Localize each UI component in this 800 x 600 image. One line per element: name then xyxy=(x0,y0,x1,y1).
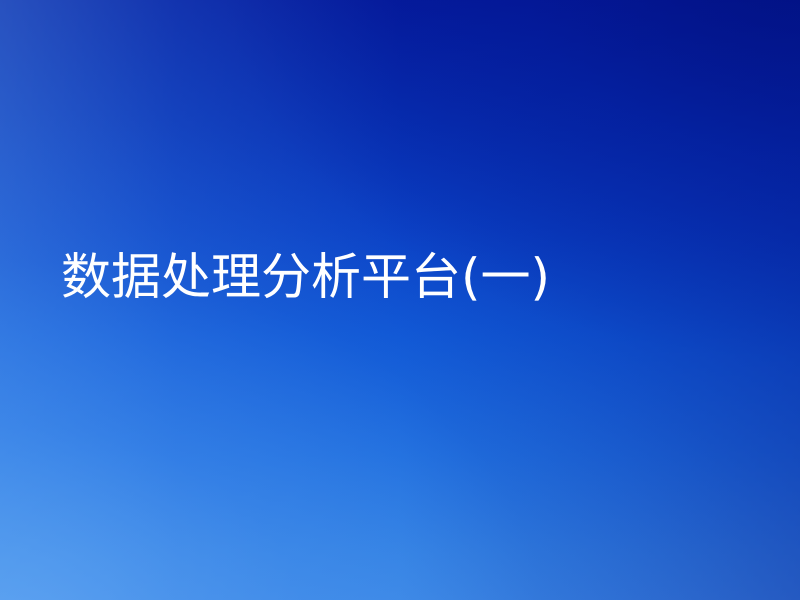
slide-title: 数据处理分析平台(一) xyxy=(61,248,550,306)
title-slide: 数据处理分析平台(一) xyxy=(0,0,800,600)
title-container: 数据处理分析平台(一) xyxy=(0,0,800,600)
